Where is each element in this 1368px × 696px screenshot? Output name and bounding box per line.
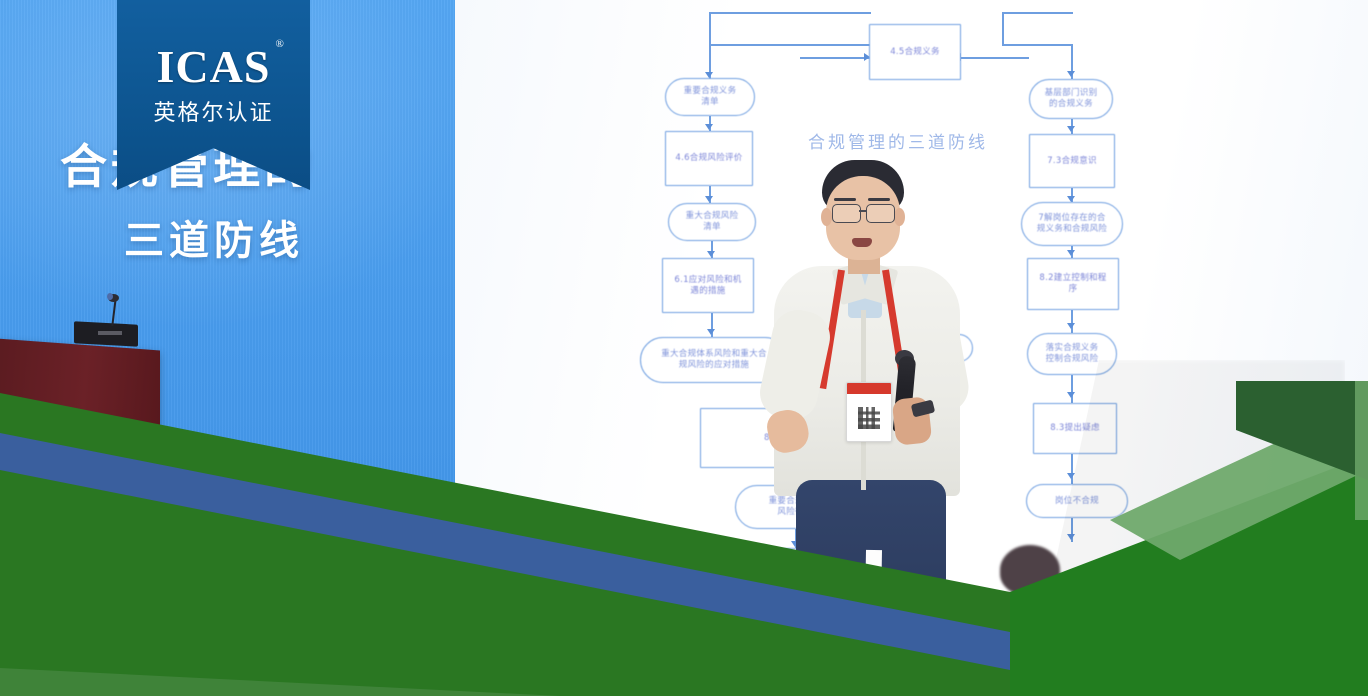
flow-node-label: 4.5合规义务 [890,47,940,58]
flow-arrowhead-icon [1067,71,1075,77]
audience-head [1268,555,1326,601]
flow-node-label: 7.3合规意识 [1047,156,1097,167]
flow-connector-horizontal [709,44,871,46]
flow-arrowhead-icon [707,251,715,257]
flow-node: 4.6合规风险评价 [665,131,753,186]
flow-connector-horizontal [800,57,870,59]
podium [0,338,160,460]
speaker-leg-gap [862,550,882,696]
speaker-ear-right [894,208,905,226]
flow-connector-vertical [1071,375,1073,403]
audience-head [1000,545,1060,595]
flow-arrowhead-icon [1067,250,1075,256]
glasses-lens-right-icon [866,204,895,223]
flow-arrowhead-icon [1067,323,1075,329]
speaker-badge [846,382,892,442]
flow-node-label: 基层部门识别 的合规义务 [1045,88,1098,109]
flow-connector-horizontal [1002,44,1073,46]
podium-mic-tip-icon [107,293,113,300]
flow-connector-vertical [1071,310,1073,333]
speaker [760,160,1000,620]
flow-node: 基层部门识别 的合规义务 [1029,79,1113,119]
flow-node: 8.2建立控制和程 序 [1027,258,1119,310]
flow-arrowhead-icon [705,124,713,130]
flow-arrowhead-icon [1067,392,1075,398]
flow-arrowhead-icon [1067,126,1075,132]
flow-node: 6.1应对风险和机 遇的措施 [662,258,754,313]
flow-connector-vertical [1002,12,1004,46]
flow-node: 重要合规义务 清单 [665,78,755,116]
speaker-ear-left [821,208,832,226]
flow-node-label: 7解岗位存在的合 规义务和合规风险 [1037,213,1107,234]
qr-code-icon [858,407,880,429]
flow-arrowhead-icon [707,329,715,335]
flow-node: 7解岗位存在的合 规义务和合规风险 [1021,202,1123,246]
flow-node-label: 落实合规义务 控制合规风险 [1046,343,1099,364]
flow-connector-horizontal [1002,12,1073,14]
flow-arrowhead-icon [705,196,713,202]
flow-connector-horizontal [709,12,871,14]
speaker-brow-left [834,198,856,201]
glasses-lens-left-icon [832,204,861,223]
flow-node-label: 8.2建立控制和程 序 [1039,273,1106,294]
glasses-bridge-icon [859,210,866,212]
badge-header-strip [847,383,891,394]
flow-node-label: 重大合规风险 清单 [686,211,739,232]
flow-node-label: 6.1应对风险和机 遇的措施 [674,275,741,296]
flow-connector-vertical [709,12,711,46]
flowchart-title: 合规管理的三道防线 [808,128,988,153]
flow-node: 重大合规风险 清单 [668,203,756,241]
audience-head [620,540,678,588]
screenshot-stage: 合规管理的 三道防线 ICAS ® 英格尔认证 4.5合规义务重要合规义务 清单… [0,0,1368,696]
flow-node-label: 重要合规义务 清单 [684,86,737,107]
podium-console-grill [98,331,122,335]
flow-connector-vertical [1071,454,1073,484]
flow-node-label: 重大合规体系风险和重大合 规风险的应对措施 [661,349,767,370]
flow-node: 4.5合规义务 [869,24,961,80]
flow-node: 7.3合规意识 [1029,134,1115,188]
flow-node-label: 4.6合规风险评价 [675,153,742,164]
flow-connector-horizontal [961,57,1029,59]
speaker-mouth [852,238,872,247]
speaker-brow-right [868,198,890,201]
